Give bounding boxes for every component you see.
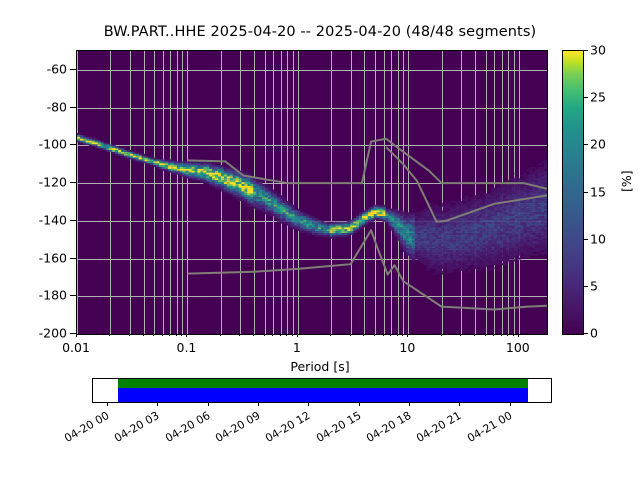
timeline-tick-mark bbox=[459, 402, 460, 406]
timeline-tick-label: 04-20 18 bbox=[364, 409, 413, 445]
colorbar-tick-label: 25 bbox=[590, 90, 606, 105]
x-tick-mark bbox=[407, 333, 408, 337]
colorbar-tick-mark bbox=[583, 192, 588, 193]
timeline-tick-label: 04-20 12 bbox=[264, 409, 313, 445]
timeline-tick-label: 04-20 15 bbox=[314, 409, 363, 445]
x-minor-tick-mark bbox=[253, 333, 254, 336]
y-tick-label: -100 bbox=[39, 137, 67, 152]
timeline-tick-mark bbox=[359, 402, 360, 406]
x-minor-tick-mark bbox=[162, 333, 163, 336]
x-minor-tick-mark bbox=[501, 333, 502, 336]
y-tick-label: -60 bbox=[47, 61, 67, 76]
y-tick-mark bbox=[70, 182, 76, 183]
timeline-tick-label: 04-20 09 bbox=[213, 409, 262, 445]
x-minor-tick-mark bbox=[181, 333, 182, 336]
y-tick-mark bbox=[70, 144, 76, 145]
y-tick-mark bbox=[70, 220, 76, 221]
x-minor-tick-mark bbox=[460, 333, 461, 336]
x-minor-tick-mark bbox=[485, 333, 486, 336]
timeline-tick-mark bbox=[107, 402, 108, 406]
timeline-tick-mark bbox=[510, 402, 511, 406]
timeline-tick-label: 04-20 21 bbox=[415, 409, 464, 445]
data-coverage-timeline[interactable] bbox=[92, 378, 552, 403]
x-tick-label: 100 bbox=[506, 340, 530, 355]
colorbar-tick-mark bbox=[583, 144, 588, 145]
x-minor-tick-mark bbox=[169, 333, 170, 336]
colorbar-tick-mark bbox=[583, 333, 588, 334]
y-tick-label: -180 bbox=[39, 288, 67, 303]
x-minor-tick-mark bbox=[441, 333, 442, 336]
y-tick-label: -200 bbox=[39, 326, 67, 341]
y-tick-mark bbox=[70, 258, 76, 259]
x-minor-tick-mark bbox=[390, 333, 391, 336]
x-minor-tick-mark bbox=[286, 333, 287, 336]
x-minor-tick-mark bbox=[507, 333, 508, 336]
timeline-tick-label: 04-21 00 bbox=[465, 409, 514, 445]
x-minor-tick-mark bbox=[330, 333, 331, 336]
x-minor-tick-mark bbox=[350, 333, 351, 336]
x-minor-tick-mark bbox=[239, 333, 240, 336]
x-minor-tick-mark bbox=[153, 333, 154, 336]
colorbar-tick-mark bbox=[583, 50, 588, 51]
noise-model-line bbox=[187, 139, 547, 189]
x-tick-mark bbox=[518, 333, 519, 337]
data-coverage-green[interactable] bbox=[118, 379, 527, 388]
timeline-tick-mark bbox=[157, 402, 158, 406]
x-axis-label: Period [s] bbox=[0, 359, 640, 374]
x-minor-tick-mark bbox=[264, 333, 265, 336]
x-tick-label: 1 bbox=[293, 340, 301, 355]
x-tick-mark bbox=[76, 333, 77, 337]
noise-model-lines bbox=[77, 51, 547, 334]
colorbar-tick-label: 15 bbox=[590, 184, 606, 199]
x-minor-tick-mark bbox=[402, 333, 403, 336]
timeline-tick-mark bbox=[409, 402, 410, 406]
ppsd-figure: BW.PART..HHE 2025-04-20 -- 2025-04-20 (4… bbox=[0, 0, 640, 480]
x-tick-label: 0.1 bbox=[176, 340, 196, 355]
timeline-tick-mark bbox=[308, 402, 309, 406]
grid-line-horizontal bbox=[77, 334, 547, 335]
noise-model-line bbox=[187, 230, 547, 309]
y-tick-label: -80 bbox=[47, 99, 67, 114]
colorbar-tick-label: 20 bbox=[590, 137, 606, 152]
x-minor-tick-mark bbox=[129, 333, 130, 336]
y-tick-label: -120 bbox=[39, 175, 67, 190]
x-minor-tick-mark bbox=[220, 333, 221, 336]
x-minor-tick-mark bbox=[374, 333, 375, 336]
x-minor-tick-mark bbox=[109, 333, 110, 336]
x-minor-tick-mark bbox=[176, 333, 177, 336]
x-minor-tick-mark bbox=[474, 333, 475, 336]
timeline-tick-mark bbox=[208, 402, 209, 406]
timeline-tick-label: 04-20 00 bbox=[62, 409, 111, 445]
timeline-tick-label: 04-20 03 bbox=[113, 409, 162, 445]
x-tick-mark bbox=[297, 333, 298, 337]
y-tick-mark bbox=[70, 69, 76, 70]
colorbar-label: [%] bbox=[619, 170, 634, 192]
colorbar-tick-mark bbox=[583, 286, 588, 287]
x-tick-label: 0.01 bbox=[62, 340, 90, 355]
x-minor-tick-mark bbox=[363, 333, 364, 336]
timeline-tick-label: 04-20 06 bbox=[163, 409, 212, 445]
colorbar-tick-label: 5 bbox=[590, 278, 598, 293]
y-tick-mark bbox=[70, 107, 76, 108]
colorbar-tick-mark bbox=[583, 239, 588, 240]
x-minor-tick-mark bbox=[143, 333, 144, 336]
x-minor-tick-mark bbox=[397, 333, 398, 336]
data-coverage-blue[interactable] bbox=[118, 388, 527, 402]
noise-model-line bbox=[386, 147, 547, 222]
y-tick-mark bbox=[70, 295, 76, 296]
x-minor-tick-mark bbox=[493, 333, 494, 336]
y-tick-label: -160 bbox=[39, 250, 67, 265]
x-minor-tick-mark bbox=[280, 333, 281, 336]
colorbar-tick-label: 10 bbox=[590, 231, 606, 246]
x-minor-tick-mark bbox=[292, 333, 293, 336]
y-tick-label: -140 bbox=[39, 212, 67, 227]
x-tick-mark bbox=[186, 333, 187, 337]
x-minor-tick-mark bbox=[272, 333, 273, 336]
colorbar-tick-mark bbox=[583, 97, 588, 98]
colorbar-tick-label: 30 bbox=[590, 43, 606, 58]
colorbar[interactable] bbox=[562, 50, 584, 335]
timeline-tick-mark bbox=[258, 402, 259, 406]
ppsd-axes[interactable] bbox=[76, 50, 548, 335]
x-minor-tick-mark bbox=[383, 333, 384, 336]
figure-title: BW.PART..HHE 2025-04-20 -- 2025-04-20 (4… bbox=[0, 24, 640, 40]
x-minor-tick-mark bbox=[513, 333, 514, 336]
x-tick-label: 10 bbox=[399, 340, 415, 355]
colorbar-tick-label: 0 bbox=[590, 326, 598, 341]
